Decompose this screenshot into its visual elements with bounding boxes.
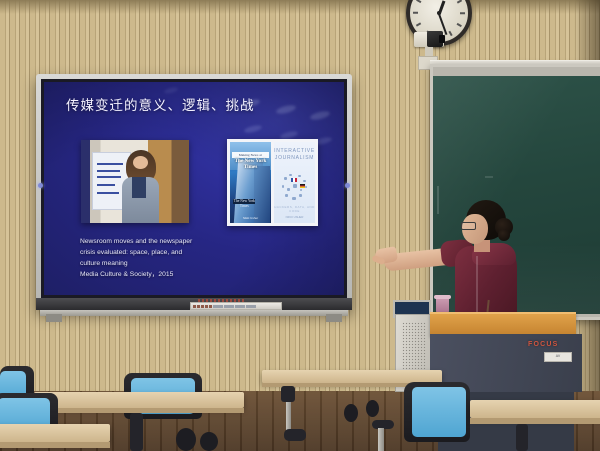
classroom-screenshot: 传媒变迁的意义、逻辑、挑战 Making News at The New Y bbox=[0, 0, 600, 451]
nyt-building-sign: The New York Times bbox=[233, 199, 255, 205]
chair-armrest bbox=[284, 429, 306, 441]
citation-line-2: crisis evaluated: space, place, and bbox=[80, 248, 192, 259]
book-cover-interactive-journalism: INTERACTIVE JOURNALISM bbox=[274, 142, 315, 223]
desk-center-leg bbox=[130, 413, 143, 451]
desk-edge bbox=[0, 442, 110, 448]
clock-center-pin bbox=[437, 11, 441, 15]
slide-title: 传媒变迁的意义、逻辑、挑战 bbox=[66, 94, 255, 114]
germany-flag-icon bbox=[300, 184, 305, 188]
france-flag-icon bbox=[291, 178, 296, 182]
lecturer-zipper bbox=[476, 256, 478, 312]
desk-edge bbox=[470, 418, 600, 424]
book-cover-nyt: Making News at The New York Times The Ne… bbox=[230, 142, 271, 223]
desk-front-left bbox=[0, 424, 110, 442]
display-stand-bar bbox=[40, 310, 348, 316]
display-control-panel[interactable] bbox=[190, 302, 282, 310]
desk-leg-bracket bbox=[281, 386, 295, 402]
nyt-author: Nikki Usher bbox=[230, 216, 271, 220]
chair-caster bbox=[344, 404, 358, 422]
display-left-led bbox=[38, 183, 43, 188]
presentation-slide: 传媒变迁的意义、逻辑、挑战 Making News at The New Y bbox=[44, 82, 344, 295]
slide-citation: Newsroom moves and the newspaper crisis … bbox=[80, 237, 192, 280]
chair-seat-pad[interactable] bbox=[412, 387, 466, 437]
glasses-icon bbox=[461, 222, 476, 230]
citation-line-1: Newsroom moves and the newspaper bbox=[80, 237, 192, 248]
podium-label-tag: AV bbox=[544, 352, 572, 362]
ij-title-line2: JOURNALISM bbox=[275, 155, 314, 161]
lecturer-hair-bun bbox=[498, 229, 510, 241]
ij-title-line1: INTERACTIVE bbox=[274, 148, 315, 154]
desk-middle bbox=[34, 392, 244, 408]
ij-subtitle: HACKERS, DATA, AND CODE bbox=[274, 205, 315, 213]
ij-author: NIKKI USHER bbox=[274, 215, 315, 219]
chalk-smudge bbox=[437, 186, 439, 214]
display-right-led bbox=[345, 183, 350, 188]
podium-wooden-top bbox=[430, 312, 576, 336]
desk-front-right bbox=[470, 400, 600, 418]
display-leg-right bbox=[326, 314, 342, 322]
chair-caster bbox=[200, 432, 218, 451]
chair-caster bbox=[176, 428, 196, 451]
podium-brand-text: FOCUS bbox=[528, 341, 559, 348]
wall-top-shadow bbox=[0, 0, 600, 14]
podium-tag-text: AV bbox=[545, 353, 571, 360]
tumbler-lid bbox=[434, 295, 451, 299]
nyt-kicker: Making News at bbox=[230, 153, 271, 157]
display-leg-left bbox=[46, 314, 62, 322]
chair-post bbox=[378, 428, 384, 451]
camera-lens-icon bbox=[439, 35, 445, 43]
citation-line-4: Media Culture & Society，2015 bbox=[80, 270, 192, 281]
desk-leg bbox=[516, 424, 528, 451]
chalk-smudge bbox=[485, 176, 493, 178]
nyt-title: The New York Times bbox=[230, 158, 271, 170]
chair-caster bbox=[366, 400, 379, 417]
slide-book-covers: Making News at The New York Times The Ne… bbox=[227, 139, 318, 226]
citation-line-3: culture meaning bbox=[80, 259, 192, 270]
slide-photo-lecture bbox=[81, 140, 189, 223]
